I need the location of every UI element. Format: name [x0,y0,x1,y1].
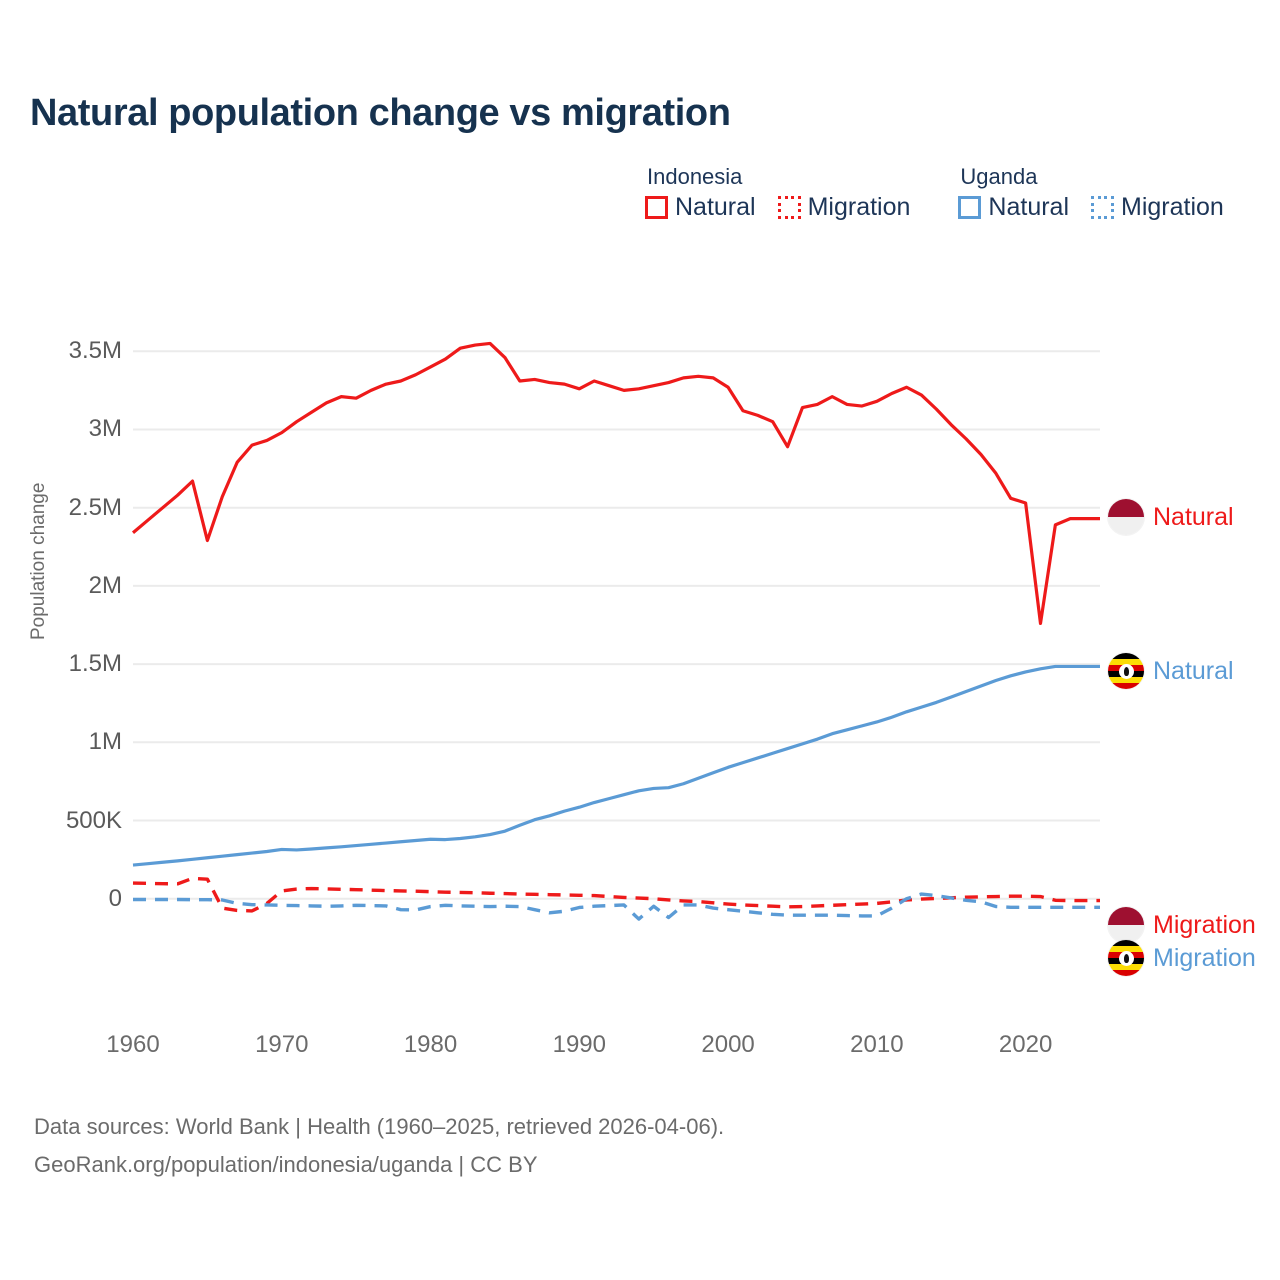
plot-svg [133,320,1100,930]
legend-item-indonesia-migration[interactable]: Migration [778,195,911,220]
indonesia-flag-icon [1108,499,1144,535]
y-axis-tick-label: 3.5M [69,337,122,365]
legend-swatch-dotted-icon [778,196,801,219]
legend-item-label: Migration [1121,195,1224,220]
series-end-label-text: Natural [1153,657,1234,686]
legend-entries: NaturalMigration [645,195,910,220]
legend-item-uganda-natural[interactable]: Natural [958,195,1069,220]
legend-item-label: Migration [808,195,911,220]
series-end-label-text: Migration [1153,911,1256,940]
series-end-label[interactable]: Natural [1108,653,1234,689]
y-axis-tick-label: 500K [66,807,122,835]
legend-group-uganda: UgandaNaturalMigration [958,163,1223,220]
x-axis-tick-label: 1980 [404,1031,457,1059]
legend-item-label: Natural [675,195,756,220]
series-end-label[interactable]: Natural [1108,499,1234,535]
x-axis-tick-label: 2020 [999,1031,1052,1059]
y-axis-tick-label: 3M [89,415,122,443]
legend-item-label: Natural [988,195,1069,220]
legend-country-label: Uganda [958,163,1223,191]
x-axis-tick-label: 1960 [106,1031,159,1059]
legend-entries: NaturalMigration [958,195,1223,220]
chart-legend: IndonesiaNaturalMigrationUgandaNaturalMi… [645,163,1224,220]
x-axis-tick-label: 2000 [701,1031,754,1059]
series-end-label-text: Migration [1153,944,1256,973]
x-axis-tick-label: 1970 [255,1031,308,1059]
series-line-uganda-natural [133,666,1100,865]
legend-swatch-dotted-icon [1091,196,1114,219]
series-end-label-text: Natural [1153,503,1234,532]
y-axis-ticks: 0500K1M1.5M2M2.5M3M3.5M [0,0,122,1280]
plot-area [133,320,1100,930]
footer: Data sources: World Bank | Health (1960–… [34,1108,724,1184]
series-line-indonesia-natural [133,343,1100,623]
legend-item-indonesia-natural[interactable]: Natural [645,195,756,220]
uganda-flag-icon [1108,653,1144,689]
series-end-label[interactable]: Migration [1108,940,1256,976]
footer-sources: Data sources: World Bank | Health (1960–… [34,1108,724,1146]
series-end-label[interactable]: Migration [1108,907,1256,943]
y-axis-tick-label: 1M [89,728,122,756]
uganda-flag-icon [1108,940,1144,976]
legend-swatch-solid-icon [645,196,668,219]
chart-root: Natural population change vs migration I… [0,0,1280,1280]
legend-swatch-solid-icon [958,196,981,219]
legend-country-label: Indonesia [645,163,910,191]
x-axis-tick-label: 1990 [553,1031,606,1059]
y-axis-tick-label: 2.5M [69,494,122,522]
y-axis-tick-label: 0 [109,885,122,913]
legend-group-indonesia: IndonesiaNaturalMigration [645,163,910,220]
legend-item-uganda-migration[interactable]: Migration [1091,195,1224,220]
chart-title: Natural population change vs migration [30,92,731,135]
y-axis-tick-label: 1.5M [69,650,122,678]
indonesia-flag-icon [1108,907,1144,943]
x-axis-tick-label: 2010 [850,1031,903,1059]
footer-attribution: GeoRank.org/population/indonesia/uganda … [34,1146,724,1184]
y-axis-tick-label: 2M [89,572,122,600]
